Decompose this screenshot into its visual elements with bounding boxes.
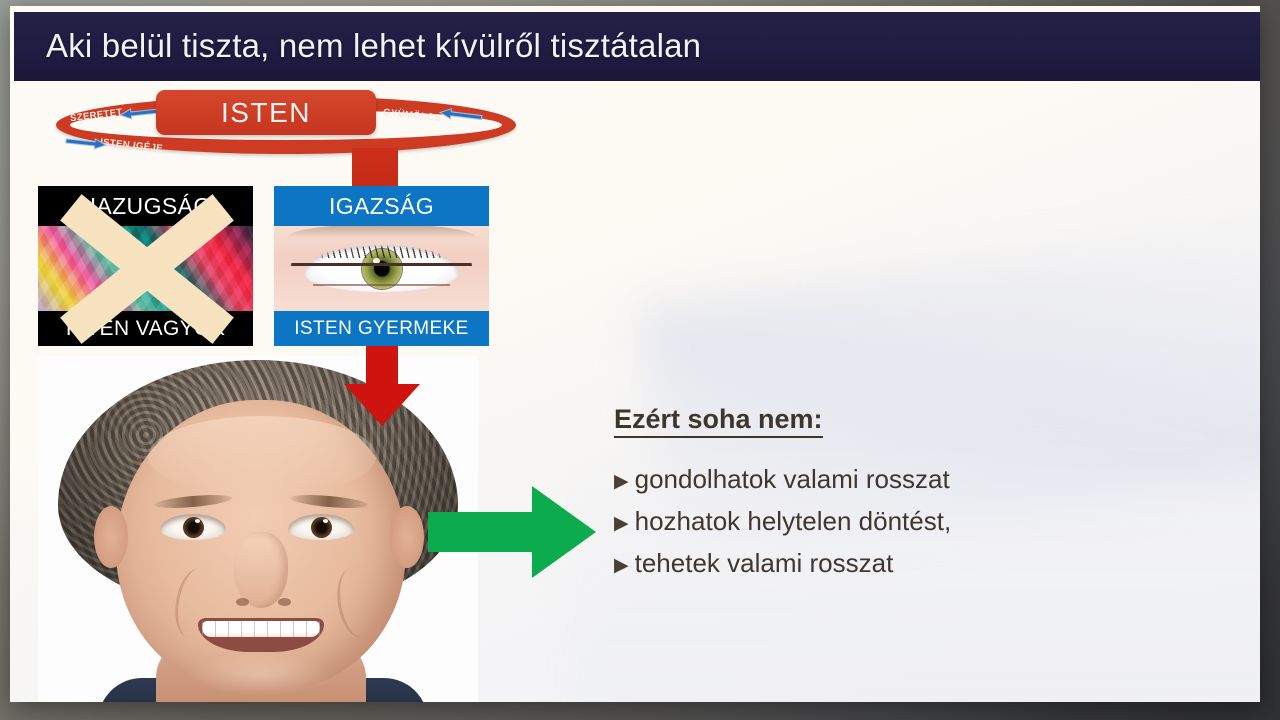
page-title: Aki belül tiszta, nem lehet kívülről tis… [46, 27, 701, 65]
presentation-slide: Aki belül tiszta, nem lehet kívülről tis… [10, 6, 1260, 702]
green-eye-image [274, 226, 489, 311]
mosaic-eye-image [38, 226, 253, 311]
isten-center-box: ISTEN [156, 90, 376, 135]
card-hazugsag-footer: ISTEN VAGYOK [38, 311, 253, 346]
isten-cycle-diagram: SZERETET ISTEN IGÉJE GYÜMÖLCS ISTEN [28, 86, 528, 166]
green-right-arrow-icon [428, 482, 598, 582]
list-item: ▶ tehetek valami rosszat [614, 542, 1114, 584]
list-item-label: tehetek valami rosszat [635, 542, 894, 584]
conclusion-list: ▶ gondolhatok valami rosszat ▶ hozhatok … [614, 458, 1114, 584]
card-igazsag-footer: ISTEN GYERMEKE [274, 311, 489, 346]
conclusion-heading: Ezért soha nem: [614, 404, 823, 438]
card-hazugsag-header: HAZUGSÁG [38, 186, 253, 226]
bullet-triangle-icon: ▶ [614, 472, 629, 491]
bullet-triangle-icon: ▶ [614, 556, 629, 575]
list-item-label: gondolhatok valami rosszat [635, 458, 950, 500]
conclusion-text-block: Ezért soha nem: ▶ gondolhatok valami ros… [614, 404, 1114, 584]
list-item-label: hozhatok helytelen döntést, [635, 500, 952, 542]
isten-label: ISTEN [221, 97, 311, 129]
card-igazsag-header: IGAZSÁG [274, 186, 489, 226]
list-item: ▶ hozhatok helytelen döntést, [614, 500, 1114, 542]
bullet-triangle-icon: ▶ [614, 514, 629, 533]
list-item: ▶ gondolhatok valami rosszat [614, 458, 1114, 500]
card-hazugsag: HAZUGSÁG ISTEN VAGYOK [38, 186, 253, 346]
card-igazsag: IGAZSÁG ISTEN GYERMEKE [274, 186, 489, 346]
slide-title-bar: Aki belül tiszta, nem lehet kívülről tis… [14, 12, 1260, 81]
red-down-arrow-icon [340, 346, 424, 428]
